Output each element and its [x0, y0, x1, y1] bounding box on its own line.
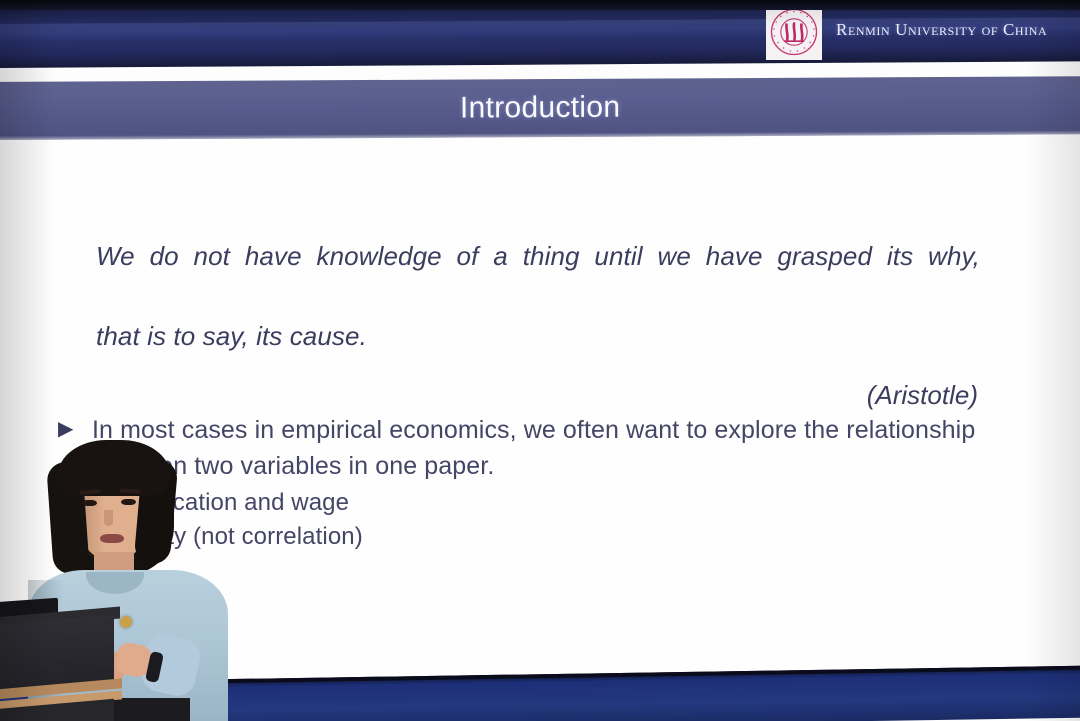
lectern-podium	[0, 612, 120, 721]
presenter-nose	[104, 510, 113, 526]
renmin-seal-icon	[766, 4, 822, 60]
presenter-eye-right	[121, 499, 136, 505]
presenter-hair-front	[58, 440, 170, 496]
university-branding: Renmin University of China	[766, 4, 1066, 60]
screen-top-edge	[0, 0, 1080, 10]
presenter-eye-left	[82, 500, 97, 506]
section-title: Introduction	[0, 88, 1080, 128]
presenter-pendant	[120, 616, 132, 628]
quote-line-2: that is to say, its cause.	[96, 316, 980, 356]
presenter-mouth	[100, 534, 124, 543]
section-title-band: Introduction	[0, 76, 1080, 140]
university-name: Renmin University of China	[836, 20, 1047, 40]
quote-line-1: We do not have knowledge of a thing unti…	[96, 236, 980, 316]
quote-attribution: (Aristotle)	[96, 380, 980, 411]
quote-block: We do not have knowledge of a thing unti…	[96, 236, 980, 411]
classroom-recording-frame: Introduction Causality	[0, 0, 1080, 721]
